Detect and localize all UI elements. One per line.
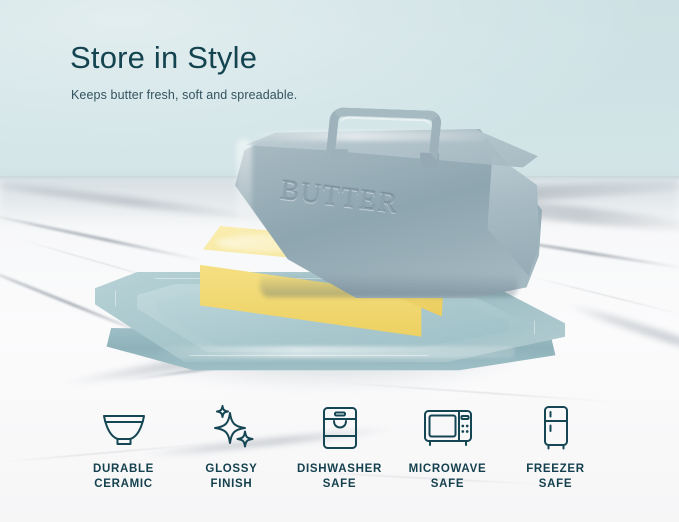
product-hero-image: Store in Style Keeps butter fresh, soft … <box>0 0 679 522</box>
feature-glossy-finish: GLOSSY FINISH <box>178 404 286 492</box>
feature-durable-ceramic: DURABLE CERAMIC <box>70 404 178 492</box>
feature-label: GLOSSY FINISH <box>205 462 257 492</box>
feature-label: DURABLE CERAMIC <box>93 462 154 492</box>
feature-label: DISHWASHER SAFE <box>297 462 382 492</box>
microwave-icon <box>422 404 474 452</box>
bowl-icon <box>101 404 147 452</box>
feature-dishwasher-safe: DISHWASHER SAFE <box>286 404 394 492</box>
feature-label: MICROWAVE SAFE <box>409 462 487 492</box>
butter-dish-lid: BUTTER <box>232 105 542 305</box>
dishwasher-icon <box>320 404 360 452</box>
page-subtitle: Keeps butter fresh, soft and spreadable. <box>71 88 297 102</box>
tray-side-highlight <box>155 346 515 358</box>
handle-arch-highlight <box>336 115 432 160</box>
lid-left-highlight <box>236 139 252 249</box>
feature-strip: DURABLE CERAMIC GLOSSY FINISH <box>0 404 679 522</box>
lid-bottom-shadow <box>260 273 518 297</box>
feature-label: FREEZER SAFE <box>526 462 585 492</box>
feature-microwave-safe: MICROWAVE SAFE <box>394 404 502 492</box>
page-title: Store in Style <box>70 40 257 76</box>
lid-handle <box>328 105 444 161</box>
feature-freezer-safe: FREEZER SAFE <box>502 404 610 492</box>
freezer-icon <box>540 404 572 452</box>
sparkle-icon <box>208 404 256 452</box>
